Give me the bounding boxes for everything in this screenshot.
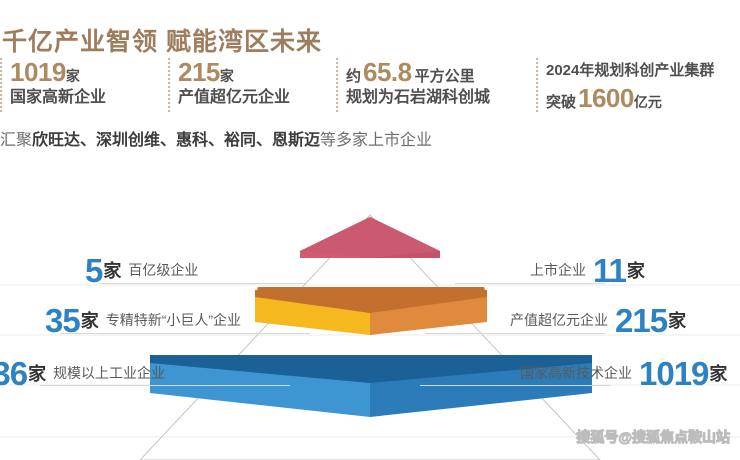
label-unit: 家 (668, 307, 686, 333)
stat-prefix: 约 (346, 68, 361, 85)
pyramid-label-middle-left: 35家 专精特新“小巨人”企业 (0, 300, 365, 340)
label-value: 5 (85, 254, 102, 287)
label-unit: 家 (81, 307, 99, 333)
stat-value-row: 1019家 (10, 58, 168, 86)
label-unit: 家 (709, 360, 727, 386)
header-section: 千亿产业智领 赋能湾区未来 1019家 国家高新企业 215家 产值超亿元企业 … (0, 0, 740, 165)
stat-number: 215 (178, 57, 220, 87)
company-names: 欣旺达、深圳创维、惠科、裕同、恩斯迈 (32, 132, 320, 149)
label-value: 736 (0, 357, 27, 390)
stat-heading: 2024年规划科创产业集群 (546, 58, 740, 84)
label-text: 百亿级企业 (128, 260, 198, 280)
pyramid-label-top-left: 5家 百亿级企业 (0, 250, 385, 290)
pyramid-label-top-right: 上市企业 11家 (530, 250, 645, 290)
stat-value-row: 215家 (178, 58, 336, 86)
stat-prefix: 突破 (546, 94, 576, 111)
label-unit: 家 (103, 257, 121, 283)
label-value: 35 (45, 304, 80, 337)
company-tail-text: 等多家上市企业 (320, 132, 432, 149)
company-lead-text: 汇聚 (0, 132, 32, 149)
stat-unit: 家 (220, 68, 234, 84)
stat-number: 65.8 (363, 57, 412, 87)
stat-block-industry-cluster: 2024年规划科创产业集群 突破1600亿元 (536, 58, 740, 112)
pyramid-label-middle-right: 产值超亿元企业 215家 (510, 300, 686, 340)
label-unit: 家 (28, 360, 46, 386)
stat-unit: 亿元 (634, 94, 662, 110)
stat-caption: 产值超亿元企业 (178, 86, 336, 110)
stat-caption: 国家高新企业 (10, 86, 168, 110)
label-text: 国家高新技术企业 (520, 363, 632, 383)
label-text: 规模以上工业企业 (53, 363, 165, 383)
label-value: 1019 (639, 357, 708, 390)
label-value: 215 (615, 304, 667, 337)
company-list-line: 汇聚欣旺达、深圳创维、惠科、裕同、恩斯迈等多家上市企业 (0, 130, 432, 152)
stat-number: 1019 (10, 57, 66, 87)
label-text: 上市企业 (530, 260, 586, 280)
stat-caption: 规划为石岩湖科创城 (346, 86, 536, 110)
page-title: 千亿产业智领 赋能湾区未来 (2, 22, 322, 58)
label-text: 专精特新“小巨人”企业 (106, 310, 241, 330)
pyramid-label-bottom-left: 736家 规模以上工业企业 (0, 353, 315, 393)
stat-value-row: 约65.8平方公里 (346, 58, 536, 86)
stat-block-area: 约65.8平方公里 规划为石岩湖科创城 (336, 58, 536, 112)
stat-block-over-100m: 215家 产值超亿元企业 (168, 58, 336, 112)
pyramid-label-bottom-right: 国家高新技术企业 1019家 (520, 353, 727, 393)
pyramid-chart: 5家 百亿级企业 35家 专精特新“小巨人”企业 736家 规模以上工业企业 上… (0, 195, 740, 460)
stat-block-high-tech: 1019家 国家高新企业 (0, 58, 168, 112)
watermark: 搜狐号@搜狐焦点鞍山站 (576, 427, 730, 447)
stat-number: 1600 (578, 83, 634, 113)
label-value: 11 (593, 254, 626, 287)
label-text: 产值超亿元企业 (510, 310, 608, 330)
label-unit: 家 (627, 257, 645, 283)
stat-value-row: 突破1600亿元 (546, 84, 740, 112)
stat-unit: 家 (66, 68, 80, 84)
stat-suffix: 平方公里 (415, 68, 475, 85)
